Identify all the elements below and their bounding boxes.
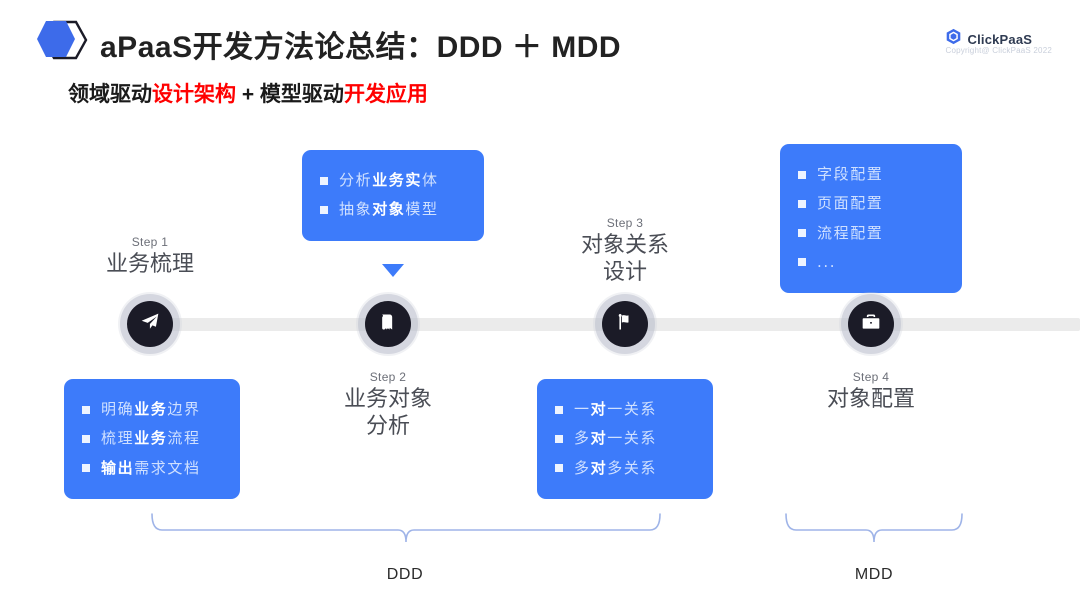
callout-item: 梳理业务流程	[82, 424, 222, 453]
slide-canvas: aPaaS开发方法论总结：DDD ＋ MDD 领域驱动设计架构 + 模型驱动开发…	[0, 0, 1080, 608]
square-bullet-icon	[555, 406, 563, 414]
callout-item: 分析业务实体	[320, 166, 466, 195]
square-bullet-icon	[82, 435, 90, 443]
callout-item: 流程配置	[798, 219, 944, 248]
square-bullet-icon	[555, 464, 563, 472]
caption-step-4: Step 4 对象配置	[776, 370, 966, 414]
callout-item-label: 页面配置	[817, 189, 883, 218]
square-bullet-icon	[320, 177, 328, 185]
square-bullet-icon	[798, 258, 806, 266]
paper-plane-icon	[140, 312, 160, 337]
step-label-1: Step 1	[55, 235, 245, 249]
step-name-2-line2: 分析	[293, 414, 483, 441]
callout-item-label: 分析业务实体	[339, 166, 439, 195]
subtitle-part-2: + 模型驱动	[236, 83, 344, 106]
callout-box-step-1: 明确业务边界梳理业务流程输出需求文档	[64, 379, 240, 499]
callout-item: 字段配置	[798, 160, 944, 189]
callout-item-label: 字段配置	[817, 160, 883, 189]
step-name-1: 业务梳理	[55, 252, 245, 279]
callout-item: 输出需求文档	[82, 454, 222, 483]
page-subtitle: 领域驱动设计架构 + 模型驱动开发应用	[68, 78, 428, 108]
callout-item-label: 一对一关系	[574, 395, 657, 424]
step-name-2: 业务对象 分析	[293, 387, 483, 441]
subtitle-part-3: 开发应用	[344, 83, 428, 106]
square-bullet-icon	[798, 229, 806, 237]
bracket-label-ddd: DDD	[305, 566, 505, 584]
caption-step-3: Step 3 对象关系 设计	[530, 216, 720, 287]
flag-icon	[615, 312, 635, 337]
step-label-3: Step 3	[530, 216, 720, 230]
timeline-node-step-3[interactable]	[602, 301, 648, 347]
callout-item-label: 抽象对象模型	[339, 195, 439, 224]
brand-mark: ClickPaaS Copyright@ ClickPaaS 2022	[945, 28, 1052, 55]
callout-item: 一对一关系	[555, 395, 695, 424]
callout-item-label: 梳理业务流程	[101, 424, 201, 453]
callout-box-step-2: 分析业务实体抽象对象模型	[302, 150, 484, 241]
callout-item-label: ...	[817, 248, 836, 277]
callout-box-step-3: 一对一关系多对一关系多对多关系	[537, 379, 713, 499]
timeline-node-step-2[interactable]	[365, 301, 411, 347]
subtitle-part-1: 设计架构	[152, 83, 236, 106]
square-bullet-icon	[798, 200, 806, 208]
callout-item: 多对多关系	[555, 454, 695, 483]
callout-tip-step-2	[382, 264, 404, 277]
step-name-3: 对象关系 设计	[530, 233, 720, 287]
callout-list-step-3: 一对一关系多对一关系多对多关系	[555, 395, 695, 483]
book-icon	[378, 312, 398, 337]
callout-item-label: 多对一关系	[574, 424, 657, 453]
callout-box-step-4: 字段配置页面配置流程配置...	[780, 144, 962, 293]
callout-item-label: 明确业务边界	[101, 395, 201, 424]
square-bullet-icon	[320, 206, 328, 214]
callout-item: 明确业务边界	[82, 395, 222, 424]
callout-list-step-1: 明确业务边界梳理业务流程输出需求文档	[82, 395, 222, 483]
square-bullet-icon	[82, 464, 90, 472]
square-bullet-icon	[798, 171, 806, 179]
callout-list-step-4: 字段配置页面配置流程配置...	[798, 160, 944, 277]
callout-list-step-2: 分析业务实体抽象对象模型	[320, 166, 466, 225]
square-bullet-icon	[82, 406, 90, 414]
step-name-3-line1: 对象关系	[530, 233, 720, 260]
bracket-ddd	[150, 512, 662, 552]
bracket-mdd	[784, 512, 964, 552]
briefcase-icon	[861, 312, 881, 337]
brand-name: ClickPaaS	[967, 32, 1032, 47]
callout-item: 多对一关系	[555, 424, 695, 453]
step-label-4: Step 4	[776, 370, 966, 384]
callout-item: 页面配置	[798, 189, 944, 218]
callout-item-label: 输出需求文档	[101, 454, 201, 483]
caption-step-2: Step 2 业务对象 分析	[293, 370, 483, 441]
bracket-label-mdd: MDD	[774, 566, 974, 584]
callout-item: ...	[798, 248, 944, 277]
caption-step-1: Step 1 业务梳理	[55, 235, 245, 279]
step-name-2-line1: 业务对象	[293, 387, 483, 414]
step-label-2: Step 2	[293, 370, 483, 384]
callout-item: 抽象对象模型	[320, 195, 466, 224]
square-bullet-icon	[555, 435, 563, 443]
hexagon-logo	[32, 18, 92, 62]
timeline-node-step-1[interactable]	[127, 301, 173, 347]
callout-item-label: 流程配置	[817, 219, 883, 248]
brand-copyright: Copyright@ ClickPaaS 2022	[945, 46, 1052, 55]
step-name-3-line2: 设计	[530, 260, 720, 287]
callout-item-label: 多对多关系	[574, 454, 657, 483]
timeline-node-step-4[interactable]	[848, 301, 894, 347]
page-title: aPaaS开发方法论总结：DDD ＋ MDD	[100, 22, 621, 66]
subtitle-part-0: 领域驱动	[68, 83, 152, 106]
step-name-4: 对象配置	[776, 387, 966, 414]
